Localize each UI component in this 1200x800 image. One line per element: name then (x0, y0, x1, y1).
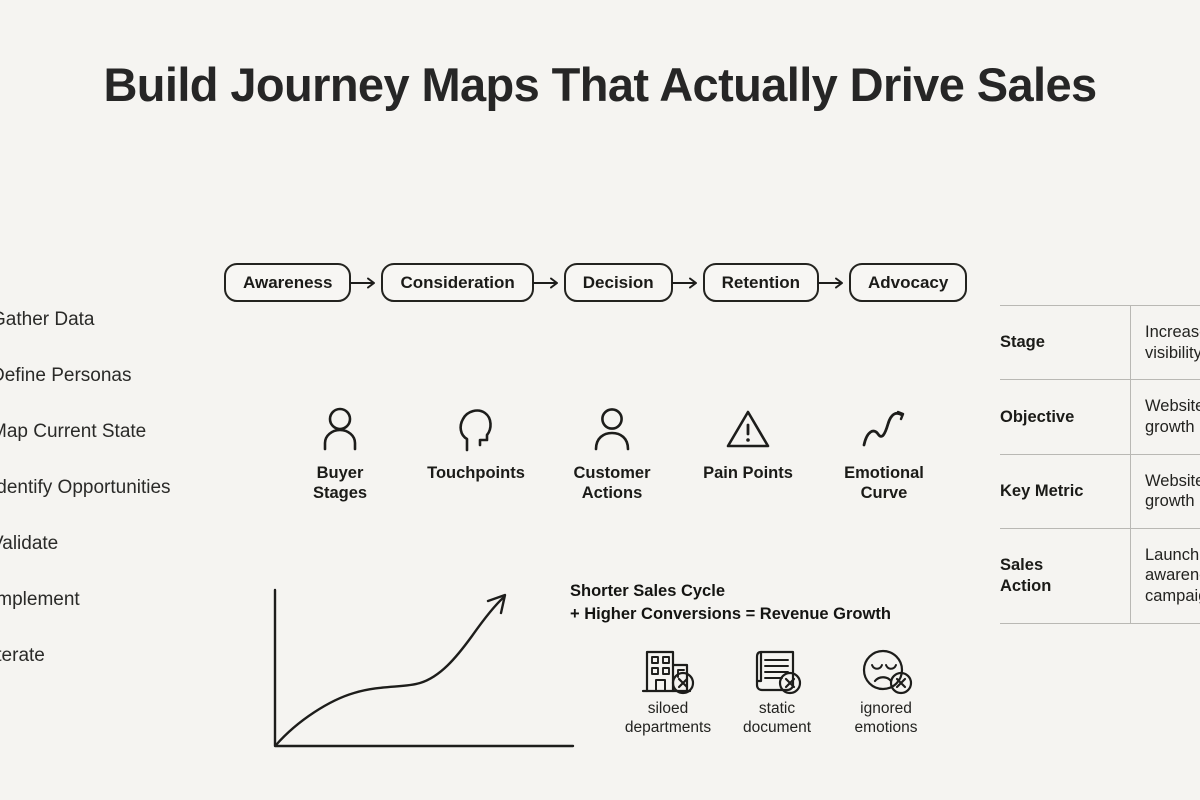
warning-triangle-icon (725, 404, 771, 454)
table-row: Objective Website growth r (1000, 380, 1200, 454)
component-label: Emotional Curve (844, 463, 924, 503)
table-row-value: Launch t awarene campaig (1131, 528, 1200, 623)
component-emotional-curve: Emotional Curve (816, 404, 952, 503)
chart-curve (276, 597, 504, 745)
table-row-label: Key Metric (1000, 454, 1131, 528)
outcome-statement: Shorter Sales Cycle + Higher Conversions… (570, 580, 891, 627)
table-row-label: Sales Action (1000, 528, 1131, 623)
pitfall-label: ignored emotions (855, 700, 918, 737)
stage-pill-advocacy: Advocacy (849, 263, 967, 302)
pitfall-ignored-emotions: ignored emotions (836, 643, 936, 737)
pitfall-label: static document (743, 700, 811, 737)
component-buyer-stages: Buyer Stages (272, 404, 408, 503)
stage-pill-consideration: Consideration (381, 263, 533, 302)
revenue-growth-chart (268, 588, 578, 753)
person-icon (320, 404, 360, 454)
pitfall-row: siloed departments static document (618, 643, 936, 737)
flow-arrow-icon (673, 276, 703, 290)
process-list-item: Implement (0, 572, 221, 628)
process-list-item: Define Personas (0, 348, 221, 404)
component-label: Pain Points (703, 463, 793, 483)
chart-axes (275, 590, 573, 746)
user-icon (592, 404, 632, 454)
component-label: Touchpoints (427, 463, 525, 483)
table-row-value: Website growth r (1131, 380, 1200, 454)
squiggle-curve-icon (860, 404, 908, 454)
stage-pill-retention: Retention (703, 263, 819, 302)
table-row: Sales Action Launch t awarene campaig (1000, 528, 1200, 623)
head-profile-icon (456, 404, 496, 454)
stage-pill-awareness: Awareness (224, 263, 351, 302)
slide-canvas: Build Journey Maps That Actually Drive S… (0, 0, 1200, 800)
process-list: Gather Data Define Personas Map Current … (0, 292, 221, 684)
component-customer-actions: Customer Actions (544, 404, 680, 503)
component-label: Buyer Stages (313, 463, 367, 503)
pitfall-static-document: static document (727, 643, 827, 737)
table-row: Stage Increase visibility (1000, 306, 1200, 380)
stage-detail-table: Stage Increase visibility Objective Webs… (1000, 305, 1200, 624)
office-building-blocked-icon (640, 643, 696, 695)
flow-arrow-icon (351, 276, 381, 290)
table-row-label: Objective (1000, 380, 1131, 454)
table-row-value: Increase visibility (1131, 306, 1200, 380)
table-row: Key Metric Website growth r (1000, 454, 1200, 528)
process-list-item: Map Current State (0, 404, 221, 460)
flow-arrow-icon (819, 276, 849, 290)
process-list-item: Validate (0, 516, 221, 572)
process-list-item: Iterate (0, 628, 221, 684)
document-blocked-icon (749, 643, 805, 695)
journey-stage-flow: Awareness Consideration Decision Retenti… (224, 263, 967, 302)
process-list-item: Gather Data (0, 292, 221, 348)
flow-arrow-icon (534, 276, 564, 290)
sad-face-blocked-icon (858, 643, 914, 695)
table-row-label: Stage (1000, 306, 1131, 380)
journey-component-row: Buyer Stages Touchpoints Customer Action… (272, 404, 952, 503)
pitfall-siloed-departments: siloed departments (618, 643, 718, 737)
stage-pill-decision: Decision (564, 263, 673, 302)
process-list-item: Identify Opportunities (0, 460, 221, 516)
component-touchpoints: Touchpoints (408, 404, 544, 483)
component-pain-points: Pain Points (680, 404, 816, 483)
page-title: Build Journey Maps That Actually Drive S… (0, 57, 1200, 112)
pitfall-label: siloed departments (625, 700, 711, 737)
component-label: Customer Actions (573, 463, 650, 503)
table-row-value: Website growth r (1131, 454, 1200, 528)
